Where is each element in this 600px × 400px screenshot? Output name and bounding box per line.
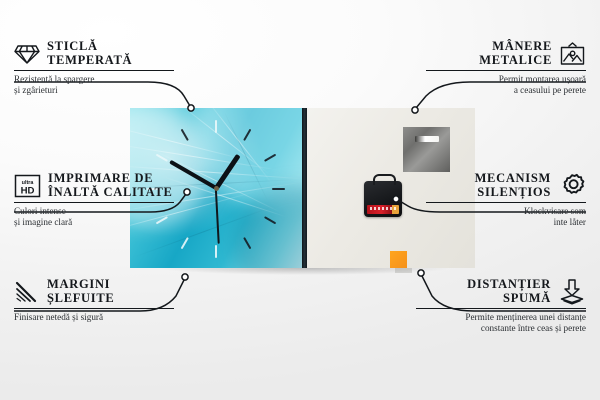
arrow-down-layers-icon [558,279,586,305]
callout-rule [426,70,586,71]
infographic-canvas: STICLĂ TEMPERATĂ Rezistentă la spargere … [0,0,600,400]
callout-tempered-glass: STICLĂ TEMPERATĂ Rezistentă la spargere … [14,40,174,96]
gear-icon [558,173,586,199]
callout-subtitle: Klockvisare som inte låter [426,206,586,228]
callout-subtitle: Permite menținerea unei distanțe constan… [416,312,586,334]
battery-label [370,207,398,210]
ultra-hd-badge-icon: ultra HD [14,174,41,198]
callout-subtitle: Rezistentă la spargere și zgârieturi [14,74,174,96]
callout-subtitle: Permit montarea ușoară a ceasului pe per… [426,74,586,96]
diamond-icon [14,43,40,65]
movement-hook [373,174,396,185]
callout-title: IMPRIMARE DE ÎNALTĂ CALITATE [48,172,173,199]
callout-silent-mechanism: MECANISM SILENȚIOS Klockvisare som inte … [426,172,586,228]
picture-hanger-icon [559,42,586,66]
callout-rule [14,70,174,71]
callout-rule [426,202,586,203]
callout-rule [14,202,174,203]
callout-rule [416,308,586,309]
callout-high-quality-print: ultra HD IMPRIMARE DE ÎNALTĂ CALITATE Cu… [14,172,174,228]
callout-metal-handles: MÂNERE METALICE Permit montarea ușoară a… [426,40,586,96]
callout-title: MÂNERE METALICE [479,40,552,67]
hand-pin [214,186,219,191]
second-hand [215,188,220,244]
callout-title: MARGINI ȘLEFUITE [47,278,114,305]
diagonal-lines-icon [14,281,40,303]
callout-subtitle: Finisare netedă și sigură [14,312,174,323]
callout-subtitle: Culori intense și imagine clară [14,206,174,228]
callout-rule [14,308,174,309]
callout-title: STICLĂ TEMPERATĂ [47,40,132,67]
foam-spacer [390,251,407,268]
hanger-slot [415,136,439,142]
callout-polished-edges: MARGINI ȘLEFUITE Finisare netedă și sigu… [14,278,174,323]
minute-hand [169,160,217,190]
svg-text:HD: HD [21,185,35,196]
product-photo [130,108,475,268]
callout-title: MECANISM SILENȚIOS [475,172,551,199]
aa-battery [367,205,399,214]
callout-title: DISTANȚIER SPUMĂ [467,278,551,305]
metal-hanger-plate [403,127,450,172]
hour-hand [214,154,240,190]
product-shadow [132,268,477,278]
quartz-movement [364,181,402,217]
callout-foam-spacer: DISTANȚIER SPUMĂ Permite menținerea unei… [416,278,586,334]
